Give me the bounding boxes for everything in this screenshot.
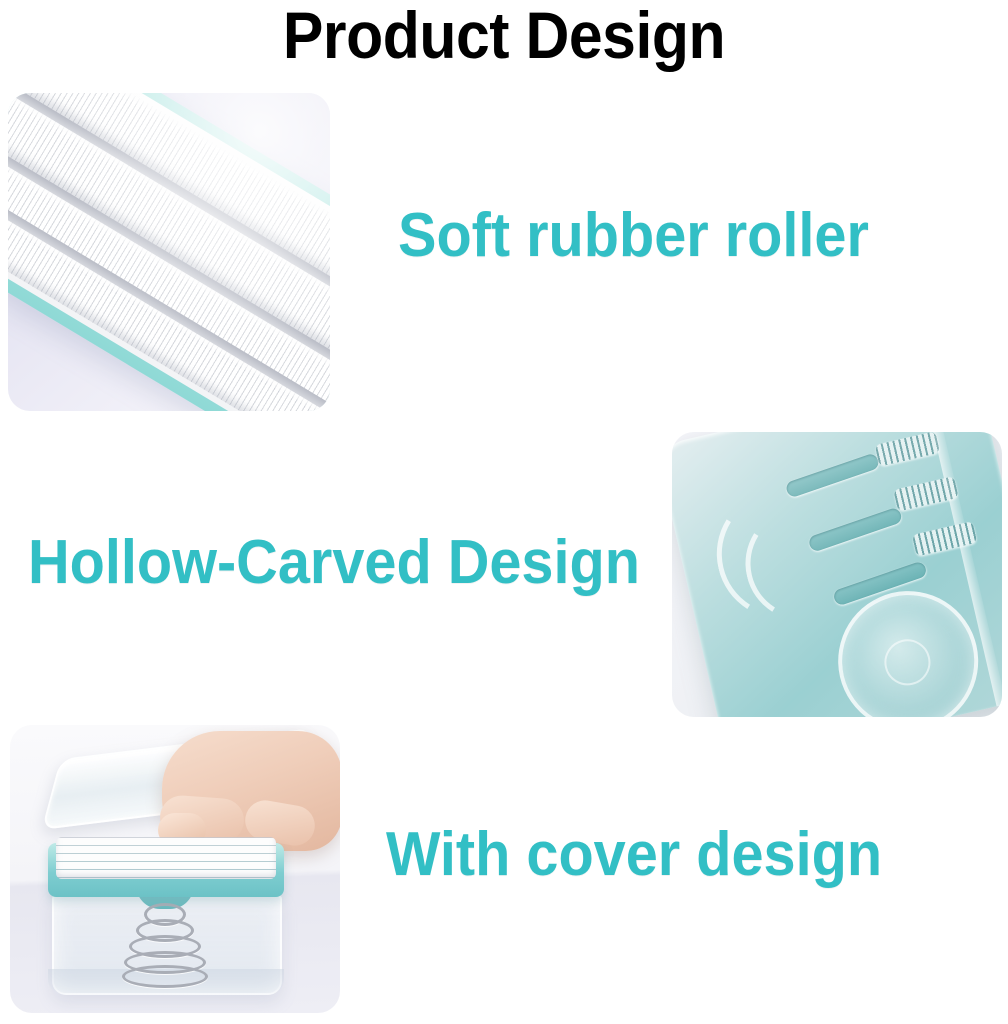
tray-roller-bars [56,837,276,879]
page-title: Product Design [40,0,967,72]
roller-surface [8,93,330,411]
photo-hollow-carved [672,432,1002,717]
transparent-lid [672,432,1002,717]
photo-with-cover [10,725,340,1013]
vent-grate [875,432,940,467]
caption-soft-rubber-roller: Soft rubber roller [398,203,869,269]
metal-spring [122,903,208,983]
caption-with-cover: With cover design [386,822,882,888]
carved-slot [784,452,880,498]
spring-coil [122,965,208,988]
photo-soft-rubber-roller [8,93,330,411]
roller-frame [8,93,330,411]
caption-hollow-carved: Hollow-Carved Design [28,530,640,596]
vent-grate [893,476,958,511]
